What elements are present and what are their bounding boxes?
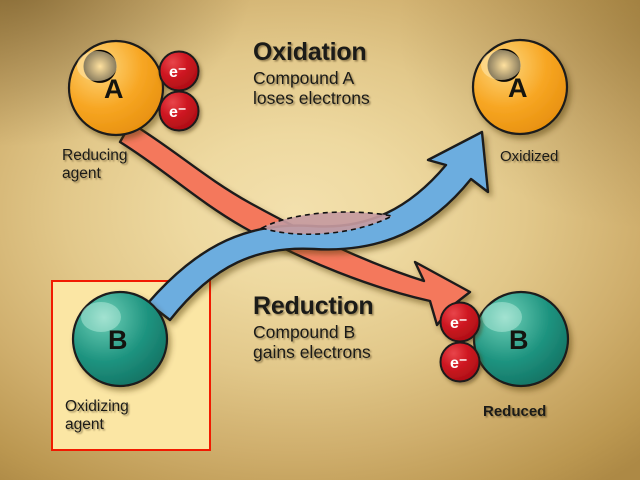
oxidizing-agent-label: Oxidizingagent [65, 398, 129, 434]
oxidizing-agent-label-line2: agent [65, 416, 104, 433]
electron-b1-label: e⁻ [450, 313, 467, 333]
oxidizing-agent-label-line1: Oxidizing [65, 398, 129, 415]
oxidized-label: Oxidized [500, 148, 558, 165]
reduced-label: Reduced [483, 403, 546, 420]
oxidation-description-line2: loses electrons [253, 88, 370, 108]
compound-b-start-letter: B [108, 325, 128, 356]
reduction-description: Compound Bgains electrons [253, 322, 371, 362]
compound-a-end-letter: A [508, 73, 528, 104]
oxidation-description-line1: Compound A [253, 68, 354, 88]
electron-b2-label: e⁻ [450, 353, 467, 373]
reduction-heading: Reduction [253, 292, 373, 321]
oxidation-heading: Oxidation [253, 38, 366, 67]
electron-a2-label: e⁻ [169, 102, 186, 122]
compound-a-start-letter: A [104, 74, 124, 105]
redox-diagram-canvas: Oxidation Compound Aloses electrons Redu… [0, 0, 640, 480]
electron-a1-label: e⁻ [169, 62, 186, 82]
compound-b-end-letter: B [509, 325, 529, 356]
reducing-agent-label-line2: agent [62, 165, 101, 182]
reducing-agent-label-line1: Reducing [62, 147, 128, 164]
reducing-agent-label: Reducingagent [62, 147, 128, 183]
oxidation-description: Compound Aloses electrons [253, 68, 370, 108]
reduction-description-line2: gains electrons [253, 342, 371, 362]
reduction-description-line1: Compound B [253, 322, 355, 342]
